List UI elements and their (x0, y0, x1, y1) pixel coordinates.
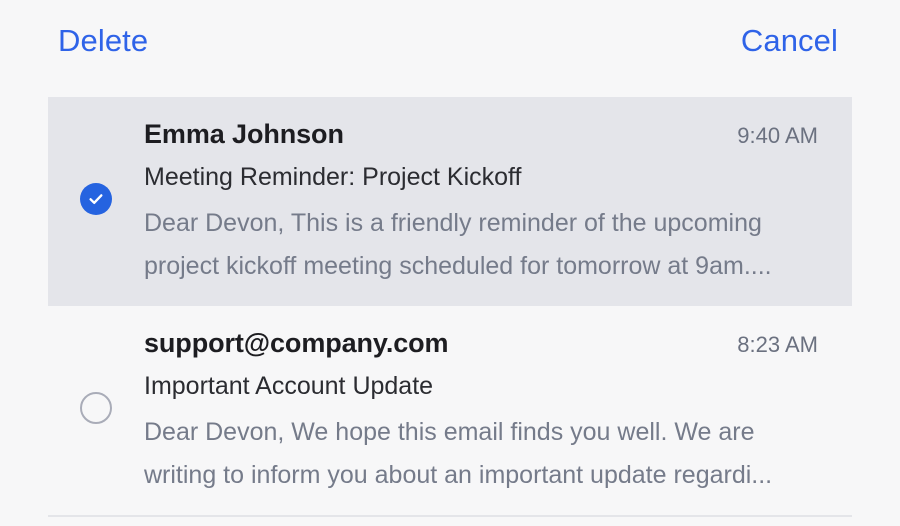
message-preview: Dear Devon, This is a friendly reminder … (144, 202, 799, 288)
message-content-2: support@company.com 8:23 AM Important Ac… (144, 322, 818, 497)
selection-cell-2 (48, 322, 144, 497)
message-row-1[interactable]: Emma Johnson 9:40 AM Meeting Reminder: P… (48, 97, 852, 306)
message-row-2[interactable]: support@company.com 8:23 AM Important Ac… (48, 306, 852, 515)
message-content-1: Emma Johnson 9:40 AM Meeting Reminder: P… (144, 113, 818, 288)
selection-toolbar: Delete Cancel (0, 0, 900, 80)
mail-selection-screen: Delete Cancel Emma Johnson 9:40 AM Meeti… (0, 0, 900, 526)
list-divider (48, 515, 852, 517)
selection-cell-1 (48, 113, 144, 288)
message-header-2: support@company.com 8:23 AM (144, 327, 818, 361)
message-sender: Emma Johnson (144, 118, 344, 152)
cancel-button[interactable]: Cancel (741, 25, 838, 56)
delete-button[interactable]: Delete (58, 25, 148, 56)
message-time: 8:23 AM (737, 331, 818, 360)
message-subject: Important Account Update (144, 371, 818, 402)
message-list: Emma Johnson 9:40 AM Meeting Reminder: P… (48, 97, 852, 517)
message-preview: Dear Devon, We hope this email finds you… (144, 411, 799, 497)
check-circle-filled-icon[interactable] (80, 183, 112, 215)
circle-outline-icon[interactable] (80, 392, 112, 424)
message-subject: Meeting Reminder: Project Kickoff (144, 162, 818, 193)
message-header-1: Emma Johnson 9:40 AM (144, 118, 818, 152)
message-time: 9:40 AM (737, 122, 818, 151)
message-sender: support@company.com (144, 327, 448, 361)
